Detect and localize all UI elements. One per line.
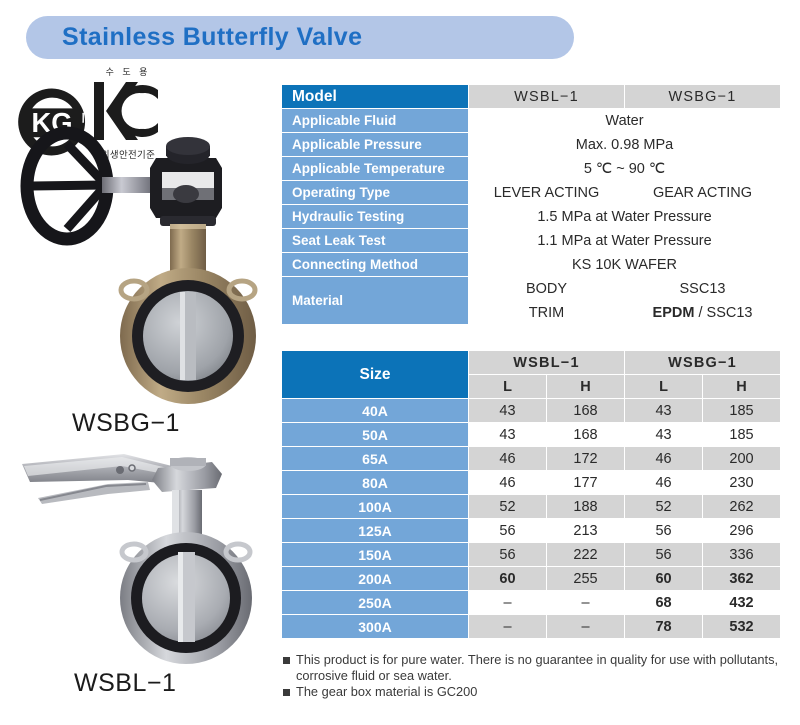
size-cell-wsbg-l: 43: [625, 399, 702, 422]
spec-label-applicable-temperature: Applicable Temperature: [282, 157, 468, 180]
page-title-banner: Stainless Butterfly Valve: [26, 16, 574, 59]
spec-value-applicable-pressure: Max. 0.98 MPa: [469, 133, 780, 156]
size-row-label: 125A: [282, 519, 468, 542]
size-header-model-wsbg: WSBG−1: [625, 351, 780, 374]
kc-top-label: 수 도 용: [92, 66, 164, 78]
size-cell-wsbl-l: 56: [469, 543, 546, 566]
table-row: 250A – – 68 432: [282, 591, 780, 614]
size-cell-wsbl-l: 46: [469, 447, 546, 470]
spec-value-applicable-temperature: 5 ℃ ~ 90 ℃: [469, 157, 780, 180]
page-title: Stainless Butterfly Valve: [62, 23, 362, 52]
spec-header-label: Model: [282, 85, 468, 108]
table-row: 40A 43 168 43 185: [282, 399, 780, 422]
table-row: 80A 46 177 46 230: [282, 471, 780, 494]
product-image-column: KG 수 도 용 위생안전기준: [0, 62, 272, 725]
size-subheader-wsbg-l: L: [625, 375, 702, 398]
size-row-label: 65A: [282, 447, 468, 470]
footnote-text: The gear box material is GC200: [296, 684, 477, 700]
specification-table: Model WSBL−1 WSBG−1 Applicable Fluid Wat…: [281, 84, 781, 325]
spec-label-hydraulic-testing: Hydraulic Testing: [282, 205, 468, 228]
size-cell-wsbl-h: 168: [547, 399, 624, 422]
size-cell-wsbl-h: –: [547, 591, 624, 614]
size-cell-wsbl-l: 56: [469, 519, 546, 542]
table-row: Applicable Fluid Water: [282, 109, 780, 132]
size-cell-wsbl-l: 46: [469, 471, 546, 494]
spec-value-operating-type-gear: GEAR ACTING: [625, 181, 780, 204]
size-cell-wsbl-l: –: [469, 615, 546, 638]
size-subheader-wsbg-h: H: [703, 375, 780, 398]
spec-value-applicable-fluid: Water: [469, 109, 780, 132]
trim-material-secondary: / SSC13: [694, 305, 752, 321]
spec-value-connecting-method: KS 10K WAFER: [469, 253, 780, 276]
size-row-label: 300A: [282, 615, 468, 638]
table-row: Applicable Pressure Max. 0.98 MPa: [282, 133, 780, 156]
table-row: Connecting Method KS 10K WAFER: [282, 253, 780, 276]
size-header: Size: [282, 351, 468, 398]
size-cell-wsbg-l: 46: [625, 447, 702, 470]
spec-header-col-wsbl: WSBL−1: [469, 85, 624, 108]
table-row: 100A 52 188 52 262: [282, 495, 780, 518]
size-cell-wsbg-h: 185: [703, 423, 780, 446]
size-cell-wsbl-l: 52: [469, 495, 546, 518]
table-row: Hydraulic Testing 1.5 MPa at Water Press…: [282, 205, 780, 228]
size-row-label: 200A: [282, 567, 468, 590]
table-row: 50A 43 168 43 185: [282, 423, 780, 446]
size-row-label: 50A: [282, 423, 468, 446]
size-cell-wsbg-l: 52: [625, 495, 702, 518]
footnote-item: This product is for pure water. There is…: [283, 652, 783, 683]
size-cell-wsbl-h: 213: [547, 519, 624, 542]
size-cell-wsbl-h: 255: [547, 567, 624, 590]
size-cell-wsbg-l: 56: [625, 519, 702, 542]
table-row: Operating Type LEVER ACTING GEAR ACTING: [282, 181, 780, 204]
table-row: Size WSBL−1 WSBG−1: [282, 351, 780, 374]
size-cell-wsbl-h: –: [547, 615, 624, 638]
spec-value-material-trim-key: TRIM: [469, 301, 624, 324]
size-cell-wsbg-h: 432: [703, 591, 780, 614]
size-cell-wsbl-h: 168: [547, 423, 624, 446]
size-cell-wsbl-l: 43: [469, 399, 546, 422]
square-bullet-icon: [283, 689, 290, 696]
size-cell-wsbg-h: 362: [703, 567, 780, 590]
size-cell-wsbg-h: 296: [703, 519, 780, 542]
size-cell-wsbl-h: 188: [547, 495, 624, 518]
spec-value-material-body-val: SSC13: [625, 277, 780, 300]
spec-label-seat-leak-test: Seat Leak Test: [282, 229, 468, 252]
spec-header-col-wsbg: WSBG−1: [625, 85, 780, 108]
size-cell-wsbg-l: 56: [625, 543, 702, 566]
size-cell-wsbg-l: 60: [625, 567, 702, 590]
size-subheader-wsbl-l: L: [469, 375, 546, 398]
size-row-label: 250A: [282, 591, 468, 614]
lever-valve-photo: [16, 440, 264, 670]
spec-label-operating-type: Operating Type: [282, 181, 468, 204]
table-row: 125A 56 213 56 296: [282, 519, 780, 542]
table-row: 65A 46 172 46 200: [282, 447, 780, 470]
spec-label-applicable-pressure: Applicable Pressure: [282, 133, 468, 156]
footnote-text: This product is for pure water. There is…: [296, 652, 783, 683]
table-row: Applicable Temperature 5 ℃ ~ 90 ℃: [282, 157, 780, 180]
size-cell-wsbl-h: 172: [547, 447, 624, 470]
size-cell-wsbg-l: 43: [625, 423, 702, 446]
table-row: 300A – – 78 532: [282, 615, 780, 638]
table-row: Model WSBL−1 WSBG−1: [282, 85, 780, 108]
size-cell-wsbg-l: 68: [625, 591, 702, 614]
spec-value-operating-type-lever: LEVER ACTING: [469, 181, 624, 204]
size-cell-wsbg-h: 200: [703, 447, 780, 470]
size-cell-wsbl-l: 43: [469, 423, 546, 446]
size-row-label: 150A: [282, 543, 468, 566]
square-bullet-icon: [283, 657, 290, 664]
table-row: 150A 56 222 56 336: [282, 543, 780, 566]
size-row-label: 100A: [282, 495, 468, 518]
spec-label-material: Material: [282, 277, 468, 324]
footnotes: This product is for pure water. There is…: [283, 652, 783, 701]
gear-valve-caption: WSBG−1: [72, 409, 180, 438]
size-cell-wsbg-h: 185: [703, 399, 780, 422]
table-row: Seat Leak Test 1.1 MPa at Water Pressure: [282, 229, 780, 252]
size-row-label: 40A: [282, 399, 468, 422]
size-subheader-wsbl-h: H: [547, 375, 624, 398]
spec-value-hydraulic-testing: 1.5 MPa at Water Pressure: [469, 205, 780, 228]
size-cell-wsbg-h: 532: [703, 615, 780, 638]
spec-value-material-trim-val: EPDM / SSC13: [625, 301, 780, 324]
size-cell-wsbl-l: –: [469, 591, 546, 614]
size-row-label: 80A: [282, 471, 468, 494]
size-cell-wsbl-h: 222: [547, 543, 624, 566]
lever-valve-caption: WSBL−1: [74, 669, 176, 698]
size-header-model-wsbl: WSBL−1: [469, 351, 624, 374]
size-cell-wsbg-l: 78: [625, 615, 702, 638]
size-cell-wsbg-l: 46: [625, 471, 702, 494]
size-dimension-table: Size WSBL−1 WSBG−1 L H L H 40A 43 168 43…: [281, 350, 781, 639]
size-cell-wsbl-h: 177: [547, 471, 624, 494]
table-row: Material BODY SSC13: [282, 277, 780, 300]
spec-value-seat-leak-test: 1.1 MPa at Water Pressure: [469, 229, 780, 252]
size-cell-wsbg-h: 262: [703, 495, 780, 518]
size-cell-wsbg-h: 230: [703, 471, 780, 494]
footnote-item: The gear box material is GC200: [283, 684, 783, 700]
spec-value-material-body-key: BODY: [469, 277, 624, 300]
gear-valve-photo: [10, 124, 260, 409]
spec-label-applicable-fluid: Applicable Fluid: [282, 109, 468, 132]
size-cell-wsbl-l: 60: [469, 567, 546, 590]
trim-material-primary: EPDM: [653, 305, 695, 321]
spec-label-connecting-method: Connecting Method: [282, 253, 468, 276]
table-row: 200A 60 255 60 362: [282, 567, 780, 590]
size-cell-wsbg-h: 336: [703, 543, 780, 566]
